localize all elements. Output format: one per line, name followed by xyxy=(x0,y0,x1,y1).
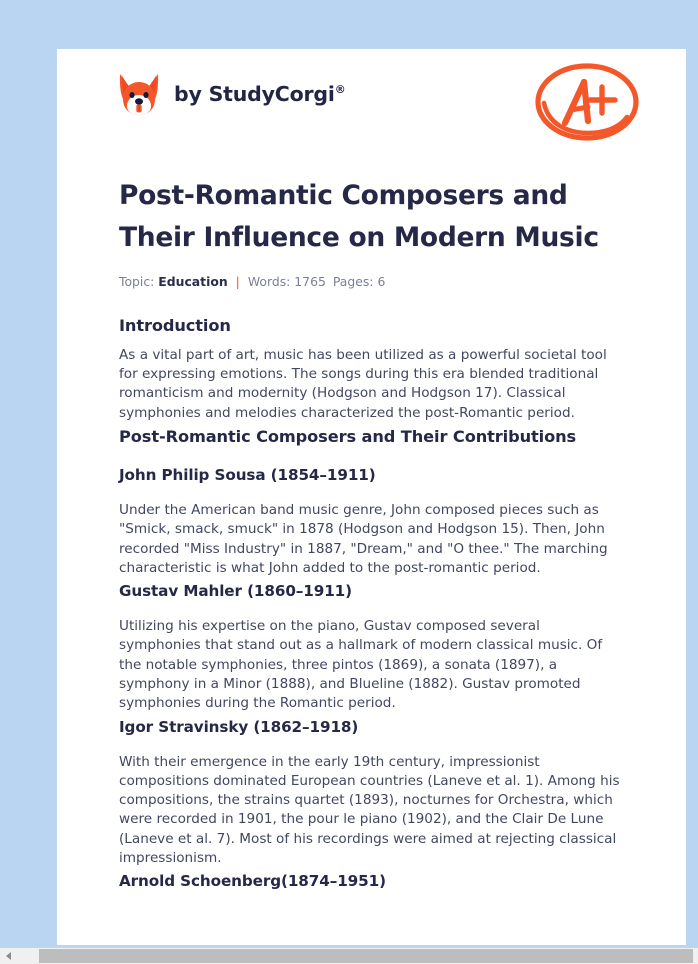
topic-value: Education xyxy=(158,274,227,289)
subsection-heading-stravinsky: Igor Stravinsky (1862–1918) xyxy=(119,718,624,736)
horizontal-scrollbar[interactable] xyxy=(0,947,698,964)
pages-label: Pages: xyxy=(333,274,374,289)
brand-prefix: by xyxy=(174,82,209,106)
subsection-heading-mahler: Gustav Mahler (1860–1911) xyxy=(119,582,624,600)
subsection-heading-sousa: John Philip Sousa (1854–1911) xyxy=(119,466,624,484)
document-header: by StudyCorgi® xyxy=(57,49,686,155)
brand-name: StudyCorgi xyxy=(209,82,335,106)
pages-value: 6 xyxy=(377,274,385,289)
subsection-paragraph-mahler: Utilizing his expertise on the piano, Gu… xyxy=(119,617,624,713)
chevron-left-icon xyxy=(6,952,11,960)
scrollbar-track[interactable] xyxy=(17,948,698,964)
scrollbar-thumb[interactable] xyxy=(39,949,693,963)
document-page: by StudyCorgi® Post-Romantic Composers a… xyxy=(57,49,686,945)
meta-separator: | xyxy=(236,274,240,289)
subsection-paragraph-stravinsky: With their emergence in the early 19th c… xyxy=(119,753,624,869)
document-body: Post-Romantic Composers and Their Influe… xyxy=(57,175,686,890)
topic-label: Topic: xyxy=(119,274,154,289)
studycorgi-brand[interactable]: by StudyCorgi® xyxy=(117,71,346,117)
section-paragraph-introduction: As a vital part of art, music has been u… xyxy=(119,346,624,423)
brand-wordmark: by StudyCorgi® xyxy=(174,82,346,106)
words-value: 1765 xyxy=(294,274,326,289)
registered-mark: ® xyxy=(335,83,346,96)
words-label: Words: xyxy=(248,274,290,289)
document-metadata: Topic: Education|Words: 1765Pages: 6 xyxy=(119,274,624,289)
subsection-paragraph-sousa: Under the American band music genre, Joh… xyxy=(119,501,624,578)
scroll-left-button[interactable] xyxy=(0,948,17,964)
section-heading-introduction: Introduction xyxy=(119,316,624,335)
subsection-heading-schoenberg: Arnold Schoenberg(1874–1951) xyxy=(119,872,624,890)
section-heading-contributions: Post-Romantic Composers and Their Contri… xyxy=(119,427,624,446)
corgi-face-icon xyxy=(117,71,161,117)
page-title: Post-Romantic Composers and Their Influe… xyxy=(119,175,624,259)
